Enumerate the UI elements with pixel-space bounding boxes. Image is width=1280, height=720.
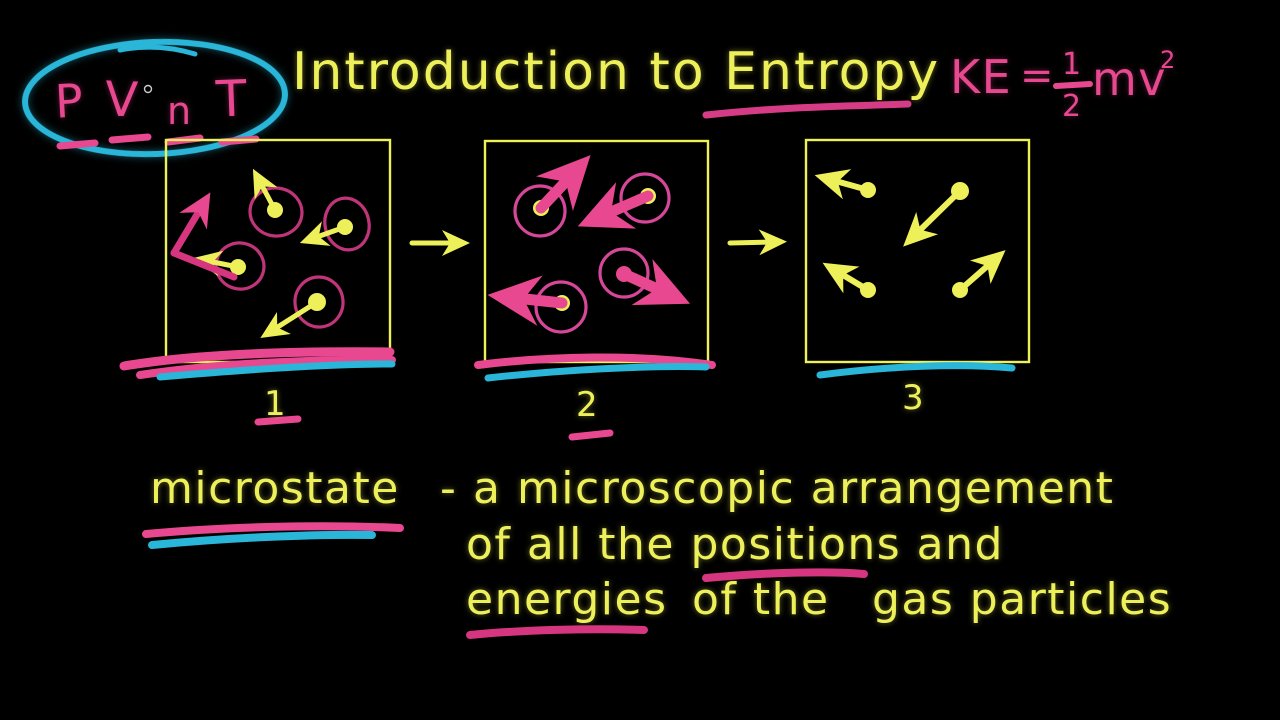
particle-dot-icon: [533, 200, 549, 216]
particle-dot-icon: [640, 188, 656, 204]
box-1-pink-underline-icon: [124, 352, 390, 366]
transition-arrow-2-3-icon: [730, 242, 772, 243]
state-variable-n: n: [167, 92, 193, 130]
velocity-arrow-icon: [516, 298, 562, 303]
particle-orbit-icon: [600, 249, 648, 297]
particle-dot-icon: [616, 266, 632, 282]
formula-exponent: 2: [1160, 48, 1177, 72]
box-2-cyan-underline-icon: [488, 367, 706, 378]
particle-dot-icon: [308, 293, 326, 311]
particle-orbit-icon: [247, 185, 305, 240]
box-1-particles: [174, 182, 374, 330]
box-label-1: 1: [264, 387, 287, 421]
microstate-box-1: [166, 140, 390, 362]
velocity-arrow-icon: [960, 262, 992, 290]
box-3-cyan-underline-icon: [820, 366, 1012, 375]
formula-rhs: mv: [1092, 56, 1167, 102]
velocity-arrow-icon: [916, 191, 960, 234]
box-1-pink-underline-2-icon: [140, 360, 392, 375]
pink-vector-up-arrow-icon: [174, 208, 201, 253]
definition-line-3-of-the: of the: [692, 578, 830, 622]
label-2-dash-icon: [572, 433, 610, 437]
particle-orbit-icon: [536, 282, 586, 332]
particle-dot-icon: [267, 202, 283, 218]
particle-dot-icon: [860, 282, 876, 298]
microstate-cyan-underline-icon: [152, 535, 372, 545]
microstate-box-2: [485, 141, 708, 362]
formula-lhs: KE: [950, 54, 1012, 100]
box-3-underlines: [820, 366, 1012, 375]
microstate-pink-underline-icon: [146, 526, 400, 534]
definition-line-1-rest: a microscopic arrangement: [473, 467, 1114, 511]
particle-orbit-icon: [293, 275, 346, 330]
velocity-arrow-icon: [838, 272, 868, 290]
velocity-arrow-icon: [624, 274, 664, 292]
particle-dot-icon: [951, 182, 969, 200]
particle-dot-icon: [230, 259, 246, 275]
velocity-arrow-icon: [208, 261, 238, 267]
box-2-underlines: [478, 357, 712, 378]
definition-line-2: of all the positions and: [466, 523, 1004, 567]
page-title: Introduction to Entropy: [292, 46, 940, 98]
formula-fraction-numerator: 1: [1062, 50, 1083, 80]
box-3-particles: [832, 180, 992, 298]
box-2-particles: [515, 174, 669, 332]
velocity-arrow-icon: [604, 196, 648, 215]
entropy-underline-icon: [706, 104, 908, 115]
particle-orbit-icon: [320, 194, 374, 254]
definition-line-3-energies: energies: [466, 578, 668, 622]
particle-orbit-icon: [621, 174, 669, 222]
formula-fraction-denominator: 2: [1062, 92, 1083, 122]
dash-under-T-icon: [222, 139, 256, 142]
particle-dot-icon: [337, 219, 353, 235]
microstate-box-3: [806, 140, 1029, 362]
definition-term: microstate: [150, 467, 400, 511]
fraction-bar-icon: [1056, 84, 1090, 86]
pink-vector-down-arrow-icon: [174, 253, 234, 277]
state-variable-T: T: [215, 73, 249, 124]
state-variables-ellipse-flourish-icon: [120, 47, 195, 54]
velocity-arrow-icon: [260, 182, 275, 210]
dash-under-V-icon: [112, 137, 148, 140]
definition-dash: -: [440, 467, 457, 511]
dash-under-n-icon: [168, 138, 200, 142]
box-label-3: 3: [902, 381, 925, 415]
velocity-arrow-icon: [273, 302, 317, 330]
box-1-cyan-underline-icon: [160, 364, 392, 377]
velocity-arrow-icon: [541, 176, 571, 208]
whiteboard-canvas: P V n T Introduction to Entropy KE = 1 2…: [0, 0, 1280, 720]
velocity-arrow-icon: [832, 180, 868, 190]
box-2-pink-underline-icon: [478, 357, 712, 365]
particle-dot-icon: [554, 295, 570, 311]
box-label-2: 2: [576, 388, 599, 422]
definition-line-3-gas-particles: gas particles: [872, 578, 1172, 622]
particle-orbit-icon: [515, 186, 565, 236]
box-1-underlines: [124, 352, 392, 377]
energies-pink-underline-icon: [470, 629, 644, 635]
cursor-dot-icon: [145, 86, 152, 93]
formula-equals: =: [1020, 56, 1055, 96]
velocity-arrow-icon: [314, 227, 345, 238]
particle-dot-icon: [952, 282, 968, 298]
particle-orbit-icon: [211, 238, 269, 295]
state-variable-P: P: [54, 77, 86, 124]
dash-under-P-icon: [60, 143, 95, 146]
particle-dot-icon: [860, 182, 876, 198]
state-variable-V: V: [104, 75, 140, 124]
